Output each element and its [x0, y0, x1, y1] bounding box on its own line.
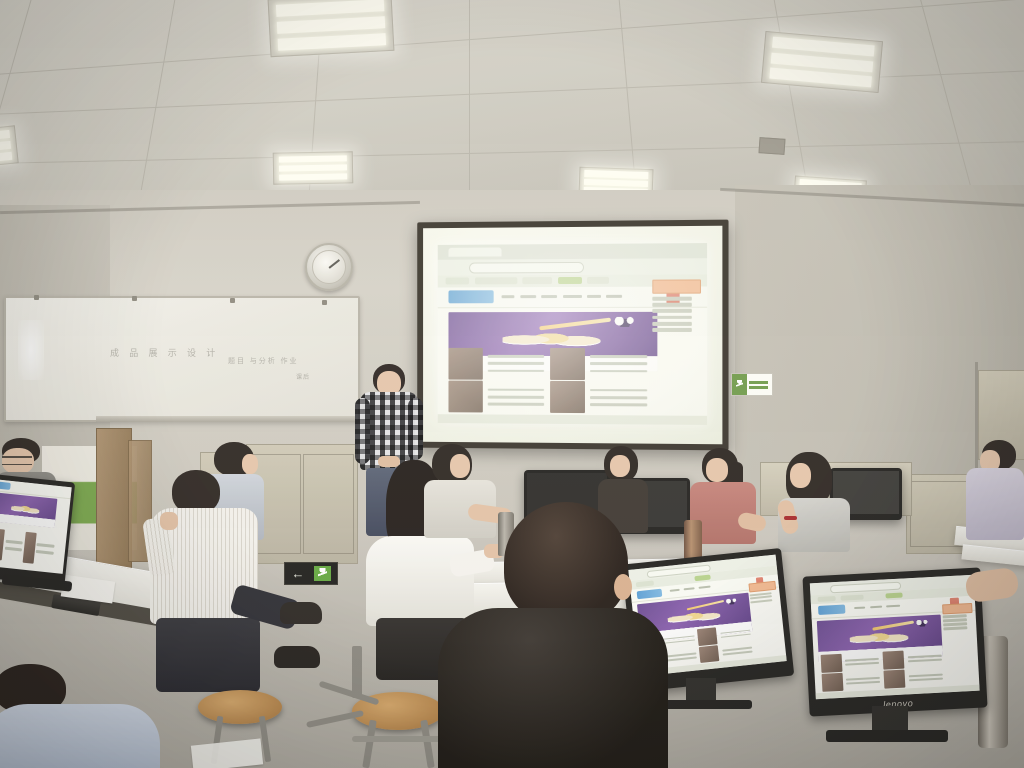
card-thumbnail: [699, 645, 720, 663]
whiteboard-text-line: 成 品 展 示 设 计: [110, 346, 219, 359]
bookmark-chip[interactable]: [840, 594, 863, 600]
nav-item[interactable]: [541, 295, 557, 298]
sidebar-line: [750, 599, 772, 604]
monitor-left-rear: [0, 474, 75, 586]
url-input[interactable]: [469, 262, 583, 273]
presenter-arm-left: [355, 398, 370, 464]
monitor-screen[interactable]: [0, 479, 71, 573]
content-card[interactable]: [820, 652, 880, 673]
nav-item[interactable]: [854, 607, 866, 610]
card-text-lines: [846, 671, 881, 691]
running-person-icon: [314, 566, 331, 581]
browser-tab-bar[interactable]: [438, 243, 707, 259]
whiteboard-magnet: [34, 295, 39, 300]
student-grey-top: [778, 452, 860, 552]
emergency-exit-sign-floor: ←: [284, 562, 338, 585]
student-striped-shirt: [150, 470, 280, 710]
content-card[interactable]: [884, 668, 944, 689]
browser-tab[interactable]: [448, 247, 501, 257]
browser-address-bar[interactable]: [438, 258, 707, 276]
round-wooden-stool[interactable]: [198, 690, 282, 724]
content-card[interactable]: [448, 381, 544, 413]
student-hand: [160, 512, 178, 530]
card-text-lines: [35, 533, 56, 566]
card-thumbnail: [448, 348, 482, 379]
student-arm: [964, 567, 1020, 604]
ceiling-vent: [758, 137, 785, 155]
card-text-lines: [719, 624, 751, 644]
ceiling-light-panel: [761, 31, 883, 93]
ceiling-light-panel: [272, 151, 353, 184]
coupon-cta-button[interactable]: [749, 581, 777, 593]
card-text-lines: [488, 381, 544, 412]
nav-item[interactable]: [699, 586, 711, 589]
nav-item[interactable]: [887, 605, 900, 608]
card-thumbnail: [821, 673, 843, 692]
staff-lavender-shirt: [966, 440, 1024, 550]
card-text-lines: [488, 348, 544, 379]
wall-clock: [305, 243, 353, 291]
nav-item[interactable]: [563, 295, 582, 298]
bookmark-chip[interactable]: [523, 278, 552, 285]
site-logo[interactable]: [448, 291, 493, 304]
card-text-lines: [845, 652, 880, 672]
sidebar-line: [652, 297, 692, 301]
projected-browser-window: [438, 243, 707, 424]
card-thumbnail: [697, 627, 718, 645]
card-thumbnail: [884, 670, 906, 689]
card-thumbnail: [550, 381, 585, 412]
coupon-cta-button[interactable]: [652, 280, 701, 295]
whiteboard-pen-tray: [96, 416, 356, 422]
card-text-lines: [3, 529, 24, 562]
projector-screen: [417, 220, 728, 451]
student-face: [450, 454, 470, 478]
card-thumbnail: [820, 654, 842, 673]
sidebar-line: [652, 328, 692, 332]
nav-item[interactable]: [501, 295, 514, 298]
student-front-black-tshirt: [438, 502, 688, 768]
nav-item[interactable]: [587, 295, 601, 298]
content-card-grid[interactable]: [820, 649, 943, 692]
student-trousers: [156, 618, 260, 692]
sidebar-line: [943, 626, 967, 630]
clock-face: [312, 250, 346, 284]
bookmark-chip-highlight[interactable]: [886, 592, 903, 598]
student-shoe: [280, 602, 322, 624]
sidebar-line: [652, 303, 692, 307]
content-card[interactable]: [550, 381, 647, 413]
page-sidebar[interactable]: [652, 280, 699, 392]
sidebar-line: [652, 315, 692, 319]
exit-sign-line-2: 紧急通道: [0, 0, 4, 1]
student-ear: [614, 574, 632, 600]
running-person-icon: [732, 374, 747, 395]
presenter-arm-right: [408, 398, 423, 460]
whiteboard-magnet: [322, 300, 327, 305]
sidebar-line: [652, 322, 692, 326]
sidebar-line: [652, 309, 692, 313]
banner-decoration-icon: [609, 317, 643, 327]
card-text-lines: [908, 668, 943, 688]
promo-banner[interactable]: [0, 492, 58, 528]
content-card[interactable]: [550, 348, 647, 380]
wrist-bracelet: [784, 516, 797, 520]
banner-headline-art: [850, 627, 911, 649]
banner-decoration-icon: [913, 619, 933, 627]
card-thumbnail: [448, 381, 482, 412]
page-sidebar[interactable]: [749, 581, 781, 649]
card-thumbnail: [883, 651, 905, 670]
cabinet-door[interactable]: [303, 454, 353, 553]
card-text-lines: [590, 382, 646, 414]
student-shoe: [274, 646, 320, 668]
banner-headline-art: [10, 501, 41, 518]
whiteboard-text-line: 题目 与分析 作业: [228, 356, 299, 366]
student-face: [790, 463, 811, 488]
content-card[interactable]: [0, 528, 24, 562]
student-foreground-blue: [0, 688, 170, 768]
glasses-icon: [2, 456, 32, 465]
bookmark-chip[interactable]: [446, 278, 470, 285]
student-face: [610, 455, 630, 477]
student-face: [706, 458, 728, 482]
stool-footring: [352, 736, 444, 742]
staff-lavender-shirt-body: [966, 468, 1024, 540]
banner-decoration-icon: [723, 597, 741, 605]
card-text-lines: [907, 649, 942, 669]
projection-surface: [423, 226, 722, 445]
student-dark-right-edge: [928, 556, 1018, 620]
whiteboard-glare: [18, 320, 44, 380]
site-logo[interactable]: [818, 605, 846, 616]
bookmark-chip[interactable]: [475, 278, 518, 285]
site-logo[interactable]: [0, 481, 10, 489]
content-card[interactable]: [22, 531, 55, 565]
bookmark-chip[interactable]: [817, 596, 835, 602]
student-black-tshirt: [438, 608, 668, 768]
wooden-divider-panel: [96, 428, 132, 570]
whiteboard-magnet: [230, 298, 235, 303]
card-thumbnail: [22, 531, 36, 563]
nav-item[interactable]: [870, 606, 882, 609]
student-hair: [504, 502, 628, 624]
ceiling-light-panel: [267, 0, 394, 57]
left-arrow-icon: ←: [292, 567, 305, 580]
bookmark-chip-highlight[interactable]: [558, 277, 582, 284]
emergency-exit-sign-wall: [731, 373, 773, 396]
content-card-grid[interactable]: [448, 348, 647, 413]
monitor-base: [826, 730, 948, 742]
content-card[interactable]: [883, 649, 943, 670]
content-card[interactable]: [821, 671, 881, 692]
bookmark-chip-highlight[interactable]: [694, 574, 711, 580]
content-card[interactable]: [448, 348, 544, 379]
nav-item[interactable]: [606, 295, 622, 298]
classroom-photo: 成 品 展 示 设 计 题目 与分析 作业 课后: [0, 0, 1024, 768]
content-card-grid[interactable]: [0, 528, 55, 565]
whiteboard-magnet: [132, 296, 137, 301]
card-text-lines: [590, 348, 646, 380]
whiteboard-text-line: 课后: [296, 372, 310, 381]
bookmark-chip[interactable]: [587, 277, 609, 284]
student-blue-shirt: [0, 704, 160, 768]
whiteboard: 成 品 展 示 设 计 题目 与分析 作业 课后: [4, 296, 360, 422]
nav-item[interactable]: [520, 295, 536, 298]
exit-sign-text: [747, 374, 772, 395]
card-text-lines: [721, 641, 753, 661]
os-taskbar[interactable]: [438, 414, 707, 425]
card-thumbnail: [550, 348, 585, 379]
